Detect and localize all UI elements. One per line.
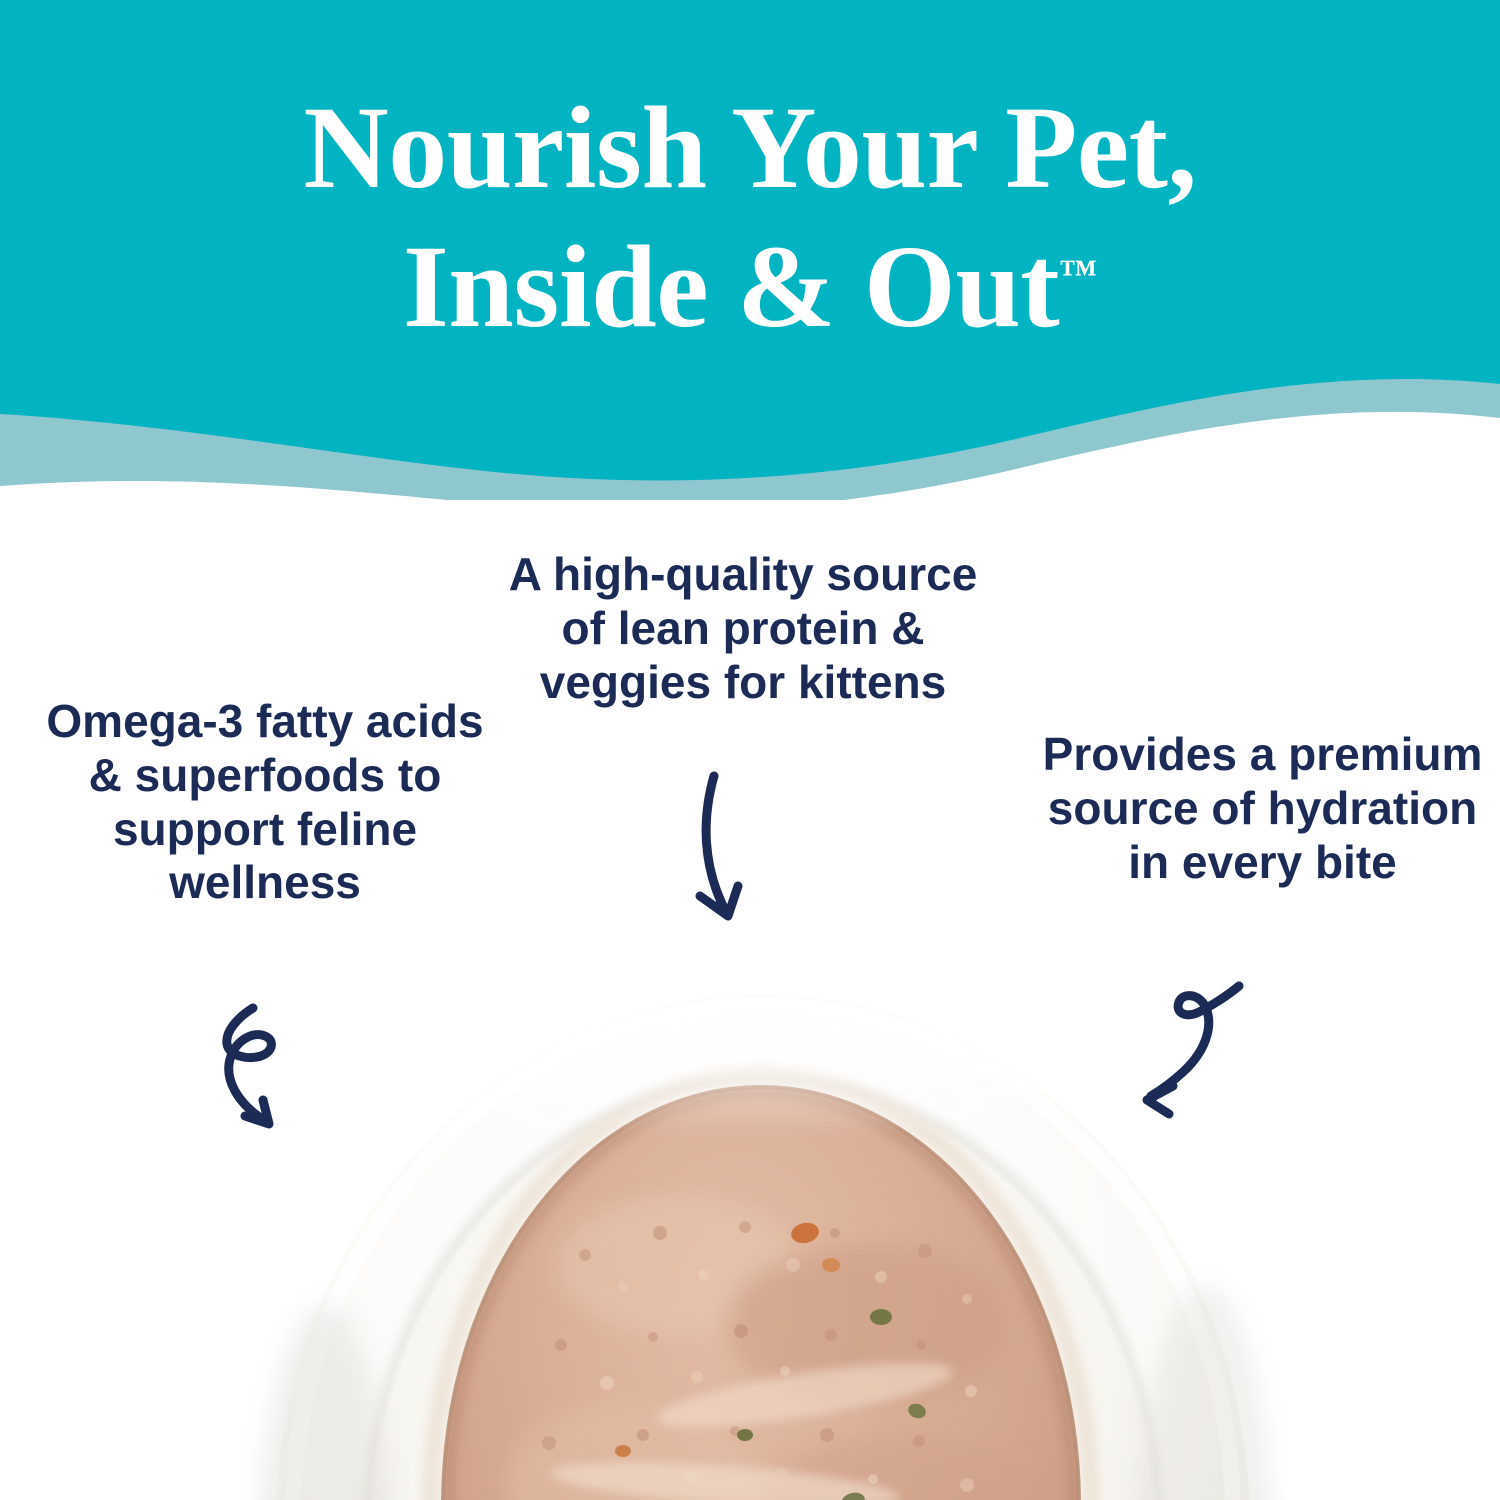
bowl-top-sheen	[445, 1013, 1045, 1137]
infographic-canvas: Nourish Your Pet, Inside & Out™	[0, 0, 1500, 1500]
curved-arrow-down-icon	[660, 762, 790, 942]
curved-looping-arrow-down-left-icon	[1105, 980, 1265, 1140]
callout-center-text: A high-quality source of lean protein & …	[508, 548, 978, 709]
callout-right-text: Provides a premium source of hydration i…	[1040, 728, 1485, 889]
callout-left-text: Omega-3 fatty acids & superfoods to supp…	[30, 695, 500, 910]
header-banner: Nourish Your Pet, Inside & Out™	[0, 0, 1500, 500]
curved-looping-arrow-down-right-icon	[185, 1000, 335, 1150]
